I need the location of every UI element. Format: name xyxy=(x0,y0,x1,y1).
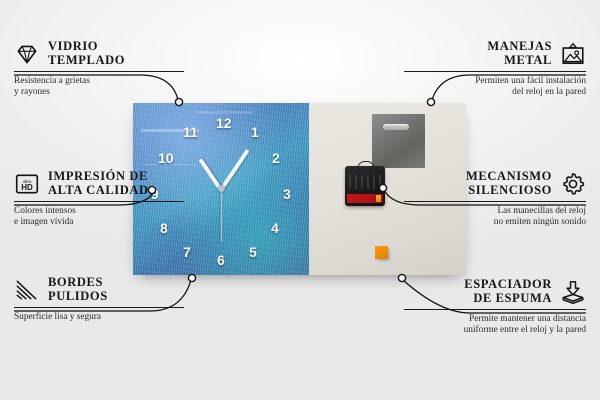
feature-title: ESPACIADOR DE ESPUMA xyxy=(464,278,552,305)
feature-vidrio-templado: VIDRIO TEMPLADO Resistencia a grietas y … xyxy=(14,40,184,98)
feature-desc: Colores intensos e imagen vívida xyxy=(14,206,184,228)
feature-title: VIDRIO TEMPLADO xyxy=(48,40,125,67)
feature-desc: Permite mantener una distancia uniforme … xyxy=(404,314,586,336)
feature-desc: Las manecillas del reloj no emiten ningú… xyxy=(404,206,586,228)
anchor-dot-vidrio-templado xyxy=(175,98,182,105)
feature-divider xyxy=(404,71,586,72)
feature-bordes-pulidos: BORDES PULIDOS Superficie lisa y segura xyxy=(14,276,184,323)
diamond-icon xyxy=(14,41,40,67)
feature-desc: Resistencia a grietas y rayones xyxy=(14,76,184,98)
svg-text:HD: HD xyxy=(21,183,33,192)
ultra-hd-badge-icon: ultra HD xyxy=(14,171,40,197)
gear-icon xyxy=(560,171,586,197)
feature-title: MANEJAS METAL xyxy=(487,40,552,67)
feature-impresion-alta-calidad: ultra HD IMPRESIÓN DE ALTA CALIDAD Color… xyxy=(14,170,184,228)
foam-spacer-arrow-icon xyxy=(560,279,586,305)
feature-title: IMPRESIÓN DE ALTA CALIDAD xyxy=(48,170,149,197)
anchor-dot-mecanismo xyxy=(379,184,386,191)
feature-title: BORDES PULIDOS xyxy=(48,276,108,303)
feature-divider xyxy=(404,201,586,202)
bevel-edge-icon xyxy=(14,277,40,303)
feature-title: MECANISMO SILENCIOSO xyxy=(466,170,552,197)
infographic-canvas: 12 1 2 3 4 5 6 7 8 9 10 11 xyxy=(0,0,600,400)
anchor-dot-bordes xyxy=(188,274,195,281)
feature-divider xyxy=(14,201,184,202)
feature-desc: Permiten una fácil instalación del reloj… xyxy=(404,76,586,98)
feature-divider xyxy=(404,309,586,310)
anchor-dot-manejas xyxy=(427,98,434,105)
feature-espaciador-de-espuma: ESPACIADOR DE ESPUMA Permite mantener un… xyxy=(404,278,586,336)
feature-desc: Superficie lisa y segura xyxy=(14,312,184,323)
feature-mecanismo-silencioso: MECANISMO SILENCIOSO Las manecillas del … xyxy=(404,170,586,228)
picture-hanger-icon xyxy=(560,41,586,67)
feature-divider xyxy=(14,307,184,308)
feature-divider xyxy=(14,71,184,72)
feature-manejas-metal: MANEJAS METAL Permiten una fácil instala… xyxy=(404,40,586,98)
